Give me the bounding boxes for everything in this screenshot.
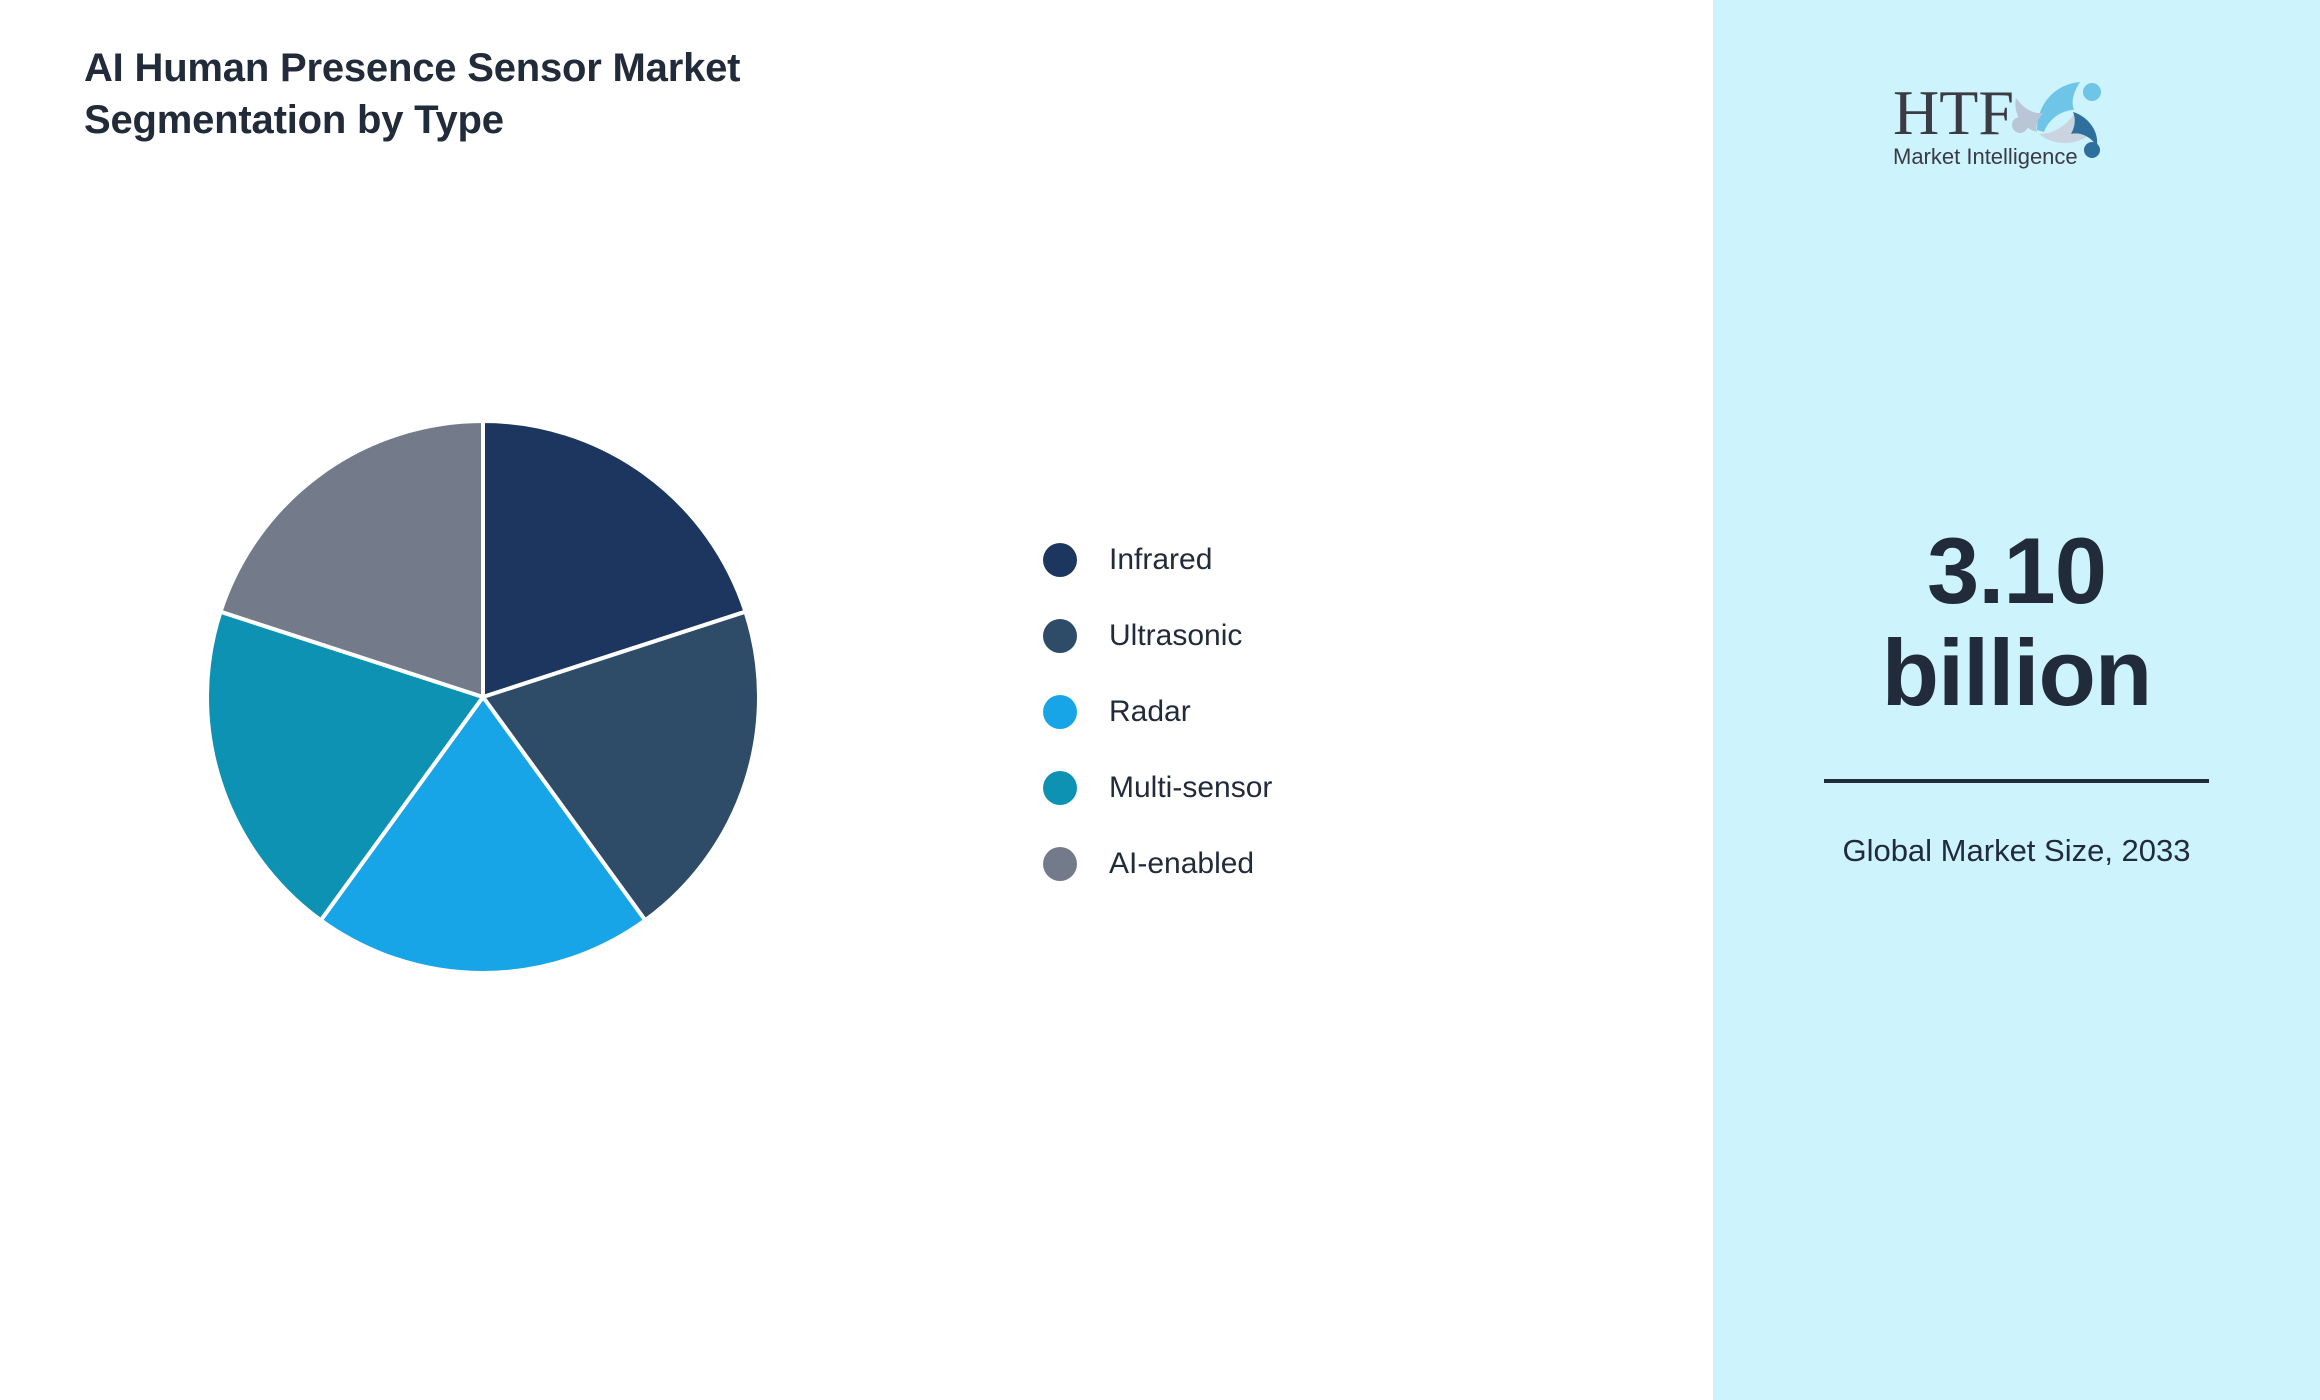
legend-label: Radar: [1109, 695, 1191, 729]
legend-label: AI-enabled: [1109, 847, 1254, 881]
stat-caption: Global Market Size, 2033: [1713, 829, 2320, 874]
legend-swatch-icon: [1043, 695, 1077, 729]
chart-panel: AI Human Presence Sensor Market Segmenta…: [0, 0, 1713, 1400]
pie-chart-svg: [207, 421, 759, 973]
legend-swatch-icon: [1043, 543, 1077, 577]
legend-item-ai-enabled[interactable]: AI-enabled: [1043, 826, 1463, 902]
legend-swatch-icon: [1043, 619, 1077, 653]
legend-label: Multi-sensor: [1109, 771, 1272, 805]
pie-chart: [207, 421, 759, 973]
brand-logo-svg: HTF Market Intelligence: [1887, 62, 2147, 172]
pie-slice-group: [207, 421, 759, 973]
stat-divider: [1824, 779, 2209, 783]
legend-item-multi-sensor[interactable]: Multi-sensor: [1043, 750, 1463, 826]
stat-value: 3.10 billion: [1713, 520, 2320, 723]
legend-item-ultrasonic[interactable]: Ultrasonic: [1043, 598, 1463, 674]
page-title: AI Human Presence Sensor Market Segmenta…: [84, 42, 1104, 146]
stat-panel: HTF Market Intelligence 3.10 billion Glo…: [1713, 0, 2320, 1400]
brand-wordmark: HTF: [1893, 77, 2014, 148]
legend-item-infrared[interactable]: Infrared: [1043, 522, 1463, 598]
market-size-stat: 3.10 billion Global Market Size, 2033: [1713, 520, 2320, 874]
market-infographic: AI Human Presence Sensor Market Segmenta…: [0, 0, 2320, 1400]
chart-legend: Infrared Ultrasonic Radar Multi-sensor A…: [1043, 522, 1463, 902]
legend-label: Ultrasonic: [1109, 619, 1242, 653]
legend-swatch-icon: [1043, 847, 1077, 881]
htf-market-intelligence-logo: HTF Market Intelligence: [1887, 62, 2147, 172]
legend-label: Infrared: [1109, 543, 1212, 577]
legend-item-radar[interactable]: Radar: [1043, 674, 1463, 750]
brand-tagline: Market Intelligence: [1893, 144, 2078, 169]
legend-swatch-icon: [1043, 771, 1077, 805]
